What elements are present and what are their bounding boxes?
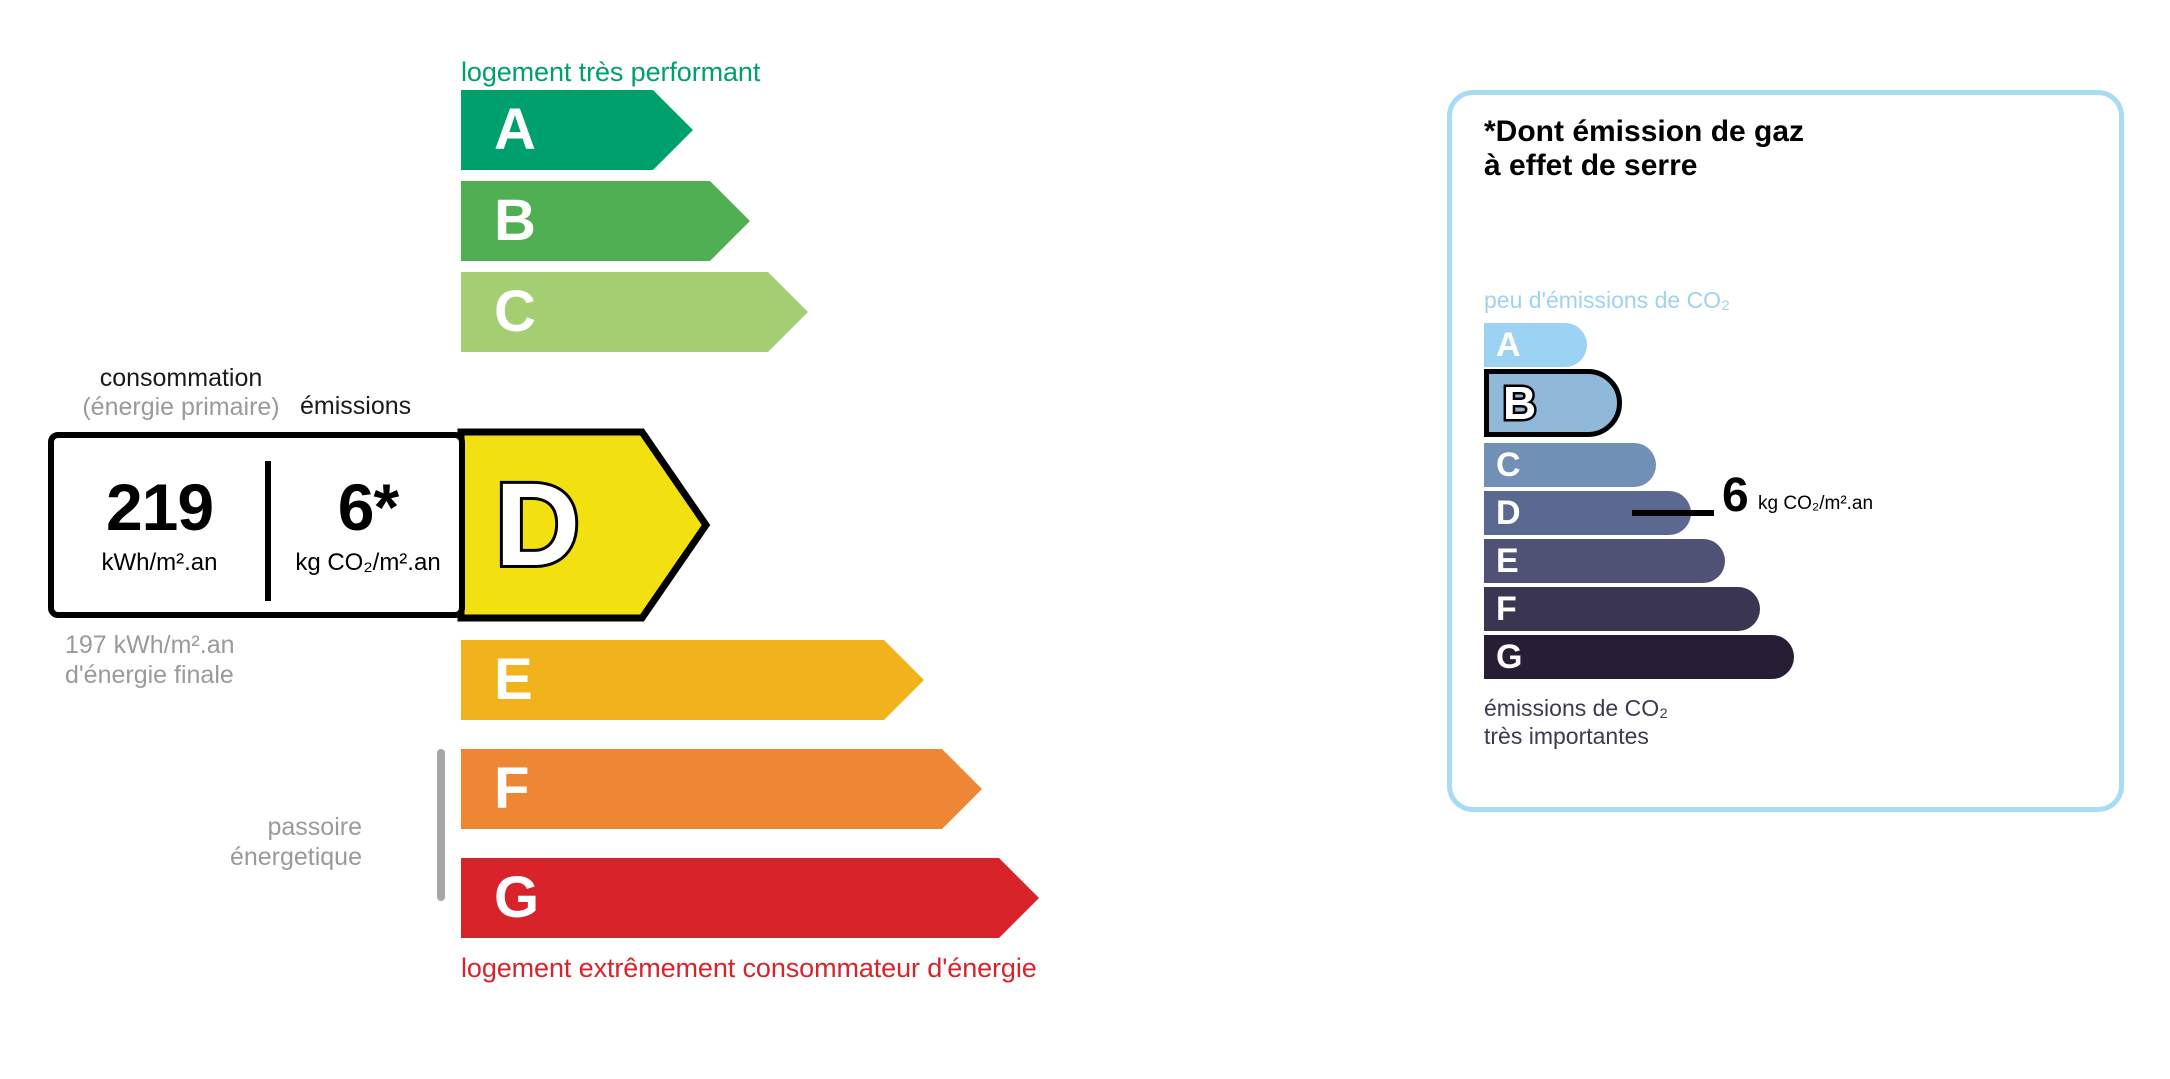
co2-bottom-line1: émissions de CO₂ <box>1484 695 1668 723</box>
energy-class-row-b[interactable]: B <box>461 181 750 261</box>
emission-value: 6* <box>338 474 398 540</box>
energy-class-row-a[interactable]: A <box>461 90 693 170</box>
emissions-label: émissions <box>300 392 411 421</box>
co2-bar-f: F <box>1484 587 1760 631</box>
energy-class-row-g[interactable]: G <box>461 858 1039 938</box>
consumption-value: 219 <box>106 474 213 540</box>
consumption-label: consommation (énergie primaire) <box>65 364 297 422</box>
scale-top-label: logement très performant <box>461 57 760 88</box>
co2-class-letter-b: B <box>1503 380 1536 426</box>
consumption-label-main: consommation <box>100 364 263 392</box>
co2-top-label: peu d'émissions de CO₂ <box>1484 287 1730 314</box>
co2-bar-a: A <box>1484 323 1587 367</box>
energy-class-row-c[interactable]: C <box>461 272 808 352</box>
energy-class-row-f[interactable]: F <box>461 749 982 829</box>
consumption-value-cell: 219 kWh/m².an <box>54 438 265 612</box>
energy-class-arrow-d: D <box>461 429 693 621</box>
co2-bar-e: E <box>1484 539 1725 583</box>
co2-bar-g: G <box>1484 635 1794 679</box>
emission-unit: kg CO₂/m².an <box>295 549 440 577</box>
energy-class-arrow-e: E <box>461 640 924 720</box>
energy-performance-scale: logement très performant A B C <box>0 0 1330 1079</box>
energy-class-row-e[interactable]: E <box>461 640 924 720</box>
energy-class-letter-a: A <box>494 101 536 159</box>
energy-class-letter-d: D <box>495 466 580 584</box>
co2-class-letter-d: D <box>1496 496 1521 530</box>
energy-class-letter-c: C <box>494 283 536 341</box>
co2-bottom-line2: très importantes <box>1484 723 1668 751</box>
co2-title-line1: *Dont émission de gaz <box>1484 115 1804 149</box>
co2-class-row-g[interactable]: G <box>1484 635 1794 679</box>
energy-class-arrow-b: B <box>461 181 750 261</box>
energy-class-letter-f: F <box>494 760 529 818</box>
co2-emissions-panel: *Dont émission de gaz à effet de serre p… <box>1447 90 2124 812</box>
co2-class-letter-e: E <box>1496 544 1519 578</box>
co2-leader-line <box>1632 510 1714 516</box>
passoire-line2: énergetique <box>110 842 362 872</box>
energy-class-letter-b: B <box>494 192 536 250</box>
co2-class-letter-f: F <box>1496 592 1517 626</box>
consumption-unit: kWh/m².an <box>101 549 217 577</box>
co2-bar-c: C <box>1484 443 1656 487</box>
passoire-indicator-bar <box>437 749 445 901</box>
emission-value-cell: 6* kg CO₂/m².an <box>271 438 465 612</box>
energy-class-arrow-g: G <box>461 858 1039 938</box>
final-energy-note: 197 kWh/m².an d'énergie finale <box>65 630 235 690</box>
final-energy-line1: 197 kWh/m².an <box>65 630 235 660</box>
co2-class-row-b-selected[interactable]: B <box>1484 369 1622 437</box>
co2-class-letter-g: G <box>1496 640 1522 674</box>
co2-bottom-label: émissions de CO₂ très importantes <box>1484 695 1668 750</box>
energy-class-row-d-selected[interactable]: D <box>461 429 693 621</box>
final-energy-line2: d'énergie finale <box>65 660 235 690</box>
co2-value: 6 <box>1722 472 1749 520</box>
co2-class-row-f[interactable]: F <box>1484 587 1760 631</box>
scale-bottom-label: logement extrêmement consommateur d'éner… <box>461 953 1037 984</box>
arrow-shape-f <box>461 749 982 829</box>
co2-panel-title: *Dont émission de gaz à effet de serre <box>1484 115 1804 183</box>
co2-class-letter-c: C <box>1496 448 1521 482</box>
energy-class-arrow-a: A <box>461 90 693 170</box>
arrow-shape-g <box>461 858 1039 938</box>
passoire-line1: passoire <box>110 812 362 842</box>
consumption-label-sub: (énergie primaire) <box>65 393 297 422</box>
co2-unit: kg CO₂/m².an <box>1758 493 1873 515</box>
value-box: 219 kWh/m².an 6* kg CO₂/m².an <box>48 432 465 618</box>
co2-title-line2: à effet de serre <box>1484 149 1804 183</box>
passoire-label: passoire énergetique <box>110 812 362 872</box>
energy-class-arrow-f: F <box>461 749 982 829</box>
energy-class-arrow-c: C <box>461 272 808 352</box>
co2-bar-b: B <box>1484 369 1622 437</box>
co2-class-row-a[interactable]: A <box>1484 323 1587 367</box>
co2-class-row-c[interactable]: C <box>1484 443 1656 487</box>
energy-class-letter-e: E <box>494 651 533 709</box>
co2-class-letter-a: A <box>1496 328 1521 362</box>
co2-class-row-e[interactable]: E <box>1484 539 1725 583</box>
energy-class-letter-g: G <box>494 869 539 927</box>
